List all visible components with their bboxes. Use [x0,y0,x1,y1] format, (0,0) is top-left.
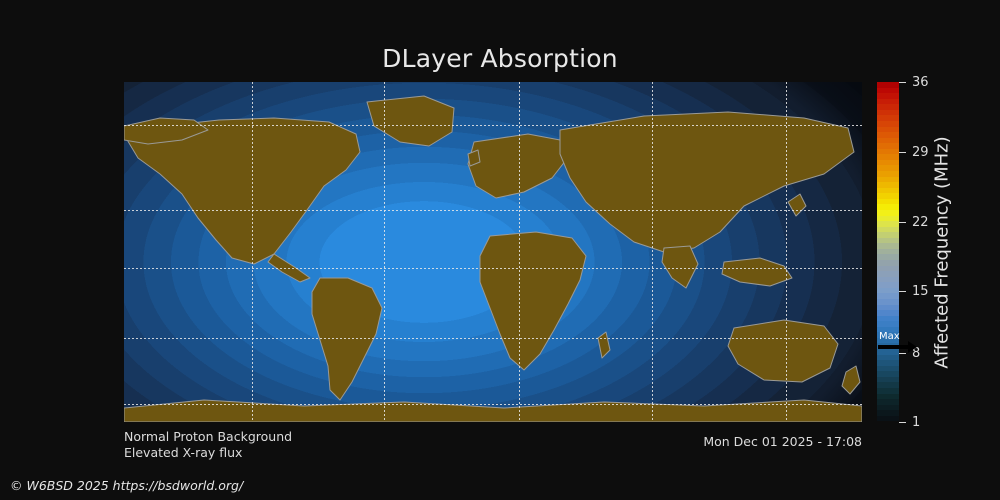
tick-mark [899,291,906,292]
colorbar-max-marker: Max [877,332,923,358]
tick-label: 22 [912,216,929,229]
copyright-footer: © W6BSD 2025 https://bsdworld.org/ [10,478,243,493]
gridline-lon-60w [384,82,385,422]
landmass-indonesia [722,258,792,286]
colorbar-band-60 [877,416,899,422]
tick-mark [899,422,906,423]
colorbar-tick-22: 22 [899,216,929,228]
caption-proton-background: Normal Proton Background [124,429,292,445]
tick-mark [899,152,906,153]
gridline-lat-60s [124,404,862,405]
landmass-africa [480,232,586,370]
landmass-madagascar [598,332,610,358]
tick-label: 29 [912,146,929,159]
gridline-lon-120e [786,82,787,422]
dlayer-absorption-page: DLayer Absorption [0,0,1000,500]
gridline-lat-60n [124,125,862,126]
landmass-greenland [367,96,454,146]
landmass-south-america [312,278,382,400]
status-captions: Normal Proton Background Elevated X-ray … [124,429,292,461]
landmass-australia [728,320,838,382]
colorbar-axis-label: Affected Frequency (MHz) [929,82,955,422]
max-marker-arrow-shaft [878,345,910,349]
page-title: DLayer Absorption [0,44,1000,73]
landmass-india [662,246,698,288]
landmass-asia [560,112,854,252]
gridline-lat-30s [124,338,862,339]
colorbar-axis-label-text: Affected Frequency (MHz) [932,136,953,368]
timestamp: Mon Dec 01 2025 - 17:08 [562,434,862,449]
landmass-new-zealand [842,366,860,394]
tick-label: 1 [912,416,920,429]
tick-label: 36 [912,76,929,89]
gridline-lat-0 [124,268,862,269]
landmass-europe [468,134,566,198]
max-marker-label: Max [879,332,900,342]
colorbar-tick-36: 36 [899,76,929,88]
caption-xray-flux: Elevated X-ray flux [124,445,292,461]
colorbar-tick-15: 15 [899,285,929,297]
colorbar[interactable] [877,82,899,422]
gridline-lon-60e [652,82,653,422]
colorbar-tick-29: 29 [899,146,929,158]
colorbar-tick-1: 1 [899,416,920,428]
gridline-lat-30n [124,210,862,211]
continents-layer [124,82,862,422]
gridline-lon-0 [519,82,520,422]
tick-label: 15 [912,285,929,298]
tick-mark [899,82,906,83]
max-marker-arrow-head [908,341,917,353]
landmass-japan [788,194,806,216]
world-map[interactable] [124,82,862,422]
tick-mark [899,222,906,223]
gridline-lon-120w [252,82,253,422]
